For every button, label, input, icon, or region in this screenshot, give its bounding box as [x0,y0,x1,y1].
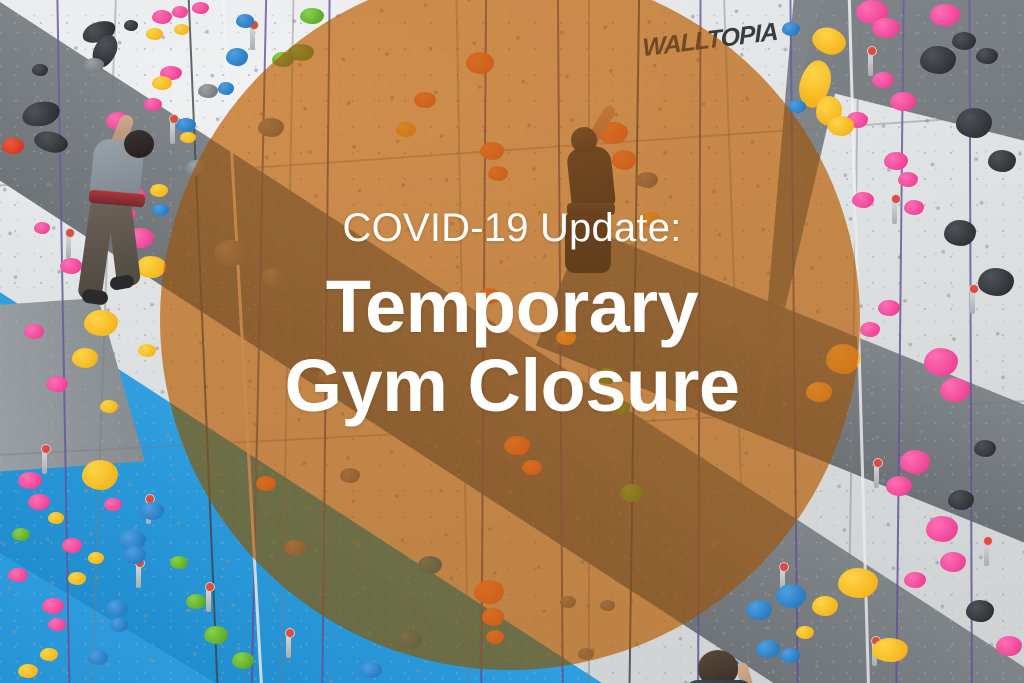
climbing-hold [12,528,30,541]
climbing-hold [976,48,998,64]
climbing-hold [172,6,188,18]
climbing-hold [898,172,918,187]
climbing-hold [926,516,958,542]
climbing-hold [884,152,908,170]
climbing-hold [152,76,172,90]
climbing-hold [48,512,64,524]
quickdraw [206,586,211,612]
headline: Temporary Gym Closure [0,267,1024,425]
quickdraw [250,24,255,50]
quickdraw [984,540,989,566]
climbing-hold [2,138,24,154]
quickdraw [868,50,873,76]
climbing-hold [42,598,64,614]
climbing-hold [300,8,324,24]
quickdraw [42,448,47,474]
headline-line-1: Temporary [0,267,1024,346]
climbing-hold [32,64,48,76]
climbing-hold [838,568,878,598]
climbing-hold [872,72,894,88]
climbing-hold [886,476,912,496]
climbing-hold [940,552,966,572]
climbing-hold [828,116,854,136]
climber-head [124,130,154,158]
climbing-hold [904,572,926,588]
headline-line-2: Gym Closure [0,346,1024,425]
covid-closure-banner: WALLTOPIA COVID-19 Update: Temporary Gym… [0,0,1024,683]
climbing-hold [124,20,138,31]
climbing-hold [974,440,996,457]
climbing-hold [40,648,58,661]
climbing-hold [218,82,234,95]
climbing-hold [140,502,164,520]
climbing-hold [180,132,196,143]
climbing-hold [186,594,206,609]
climbing-hold [110,618,128,632]
climbing-hold [68,572,86,585]
climbing-hold [18,664,38,678]
climbing-hold [18,472,42,489]
climbing-hold [872,638,908,662]
climbing-hold [782,22,800,36]
climbing-hold [146,28,163,40]
climbing-hold [152,10,172,24]
climbing-hold [360,662,382,678]
climbing-hold [48,618,66,631]
quickdraw [286,632,291,658]
climbing-hold [890,92,916,111]
eyebrow-covid-update: COVID-19 Update: [0,206,1024,251]
climbing-hold [226,48,248,66]
climbing-hold [106,600,128,617]
announcement-text-block: COVID-19 Update: Temporary Gym Closure [0,206,1024,425]
climbing-hold [996,636,1022,656]
climbing-hold [84,58,104,72]
climbing-hold [956,108,992,138]
climbing-hold [948,490,974,510]
climbing-hold [174,24,189,35]
climbing-hold [232,652,254,669]
climbing-hold [236,14,254,28]
climbing-hold [900,450,930,474]
climbing-hold [872,18,900,38]
climbing-hold [104,498,122,511]
climbing-hold [796,626,814,639]
climbing-hold [198,84,218,98]
climbing-hold [88,552,104,564]
climber-head [698,650,738,683]
climbing-hold [812,596,838,616]
climbing-hold [920,46,956,74]
climbing-hold [28,494,50,510]
climbing-hold [204,626,228,644]
climbing-hold [88,650,108,665]
quickdraw [136,562,141,588]
climbing-hold [170,556,188,569]
climber-bottom-right [678,640,788,683]
climbing-hold [988,150,1016,172]
climbing-hold [192,2,209,14]
climbing-hold [952,32,976,50]
climbing-hold [8,568,28,582]
climbing-hold [124,546,146,564]
climbing-hold [746,600,772,620]
climbing-hold [930,4,960,26]
climbing-hold [776,584,806,608]
climbing-hold [62,538,82,553]
climbing-hold [966,600,994,622]
quickdraw [874,462,879,488]
climbing-hold [82,460,118,490]
